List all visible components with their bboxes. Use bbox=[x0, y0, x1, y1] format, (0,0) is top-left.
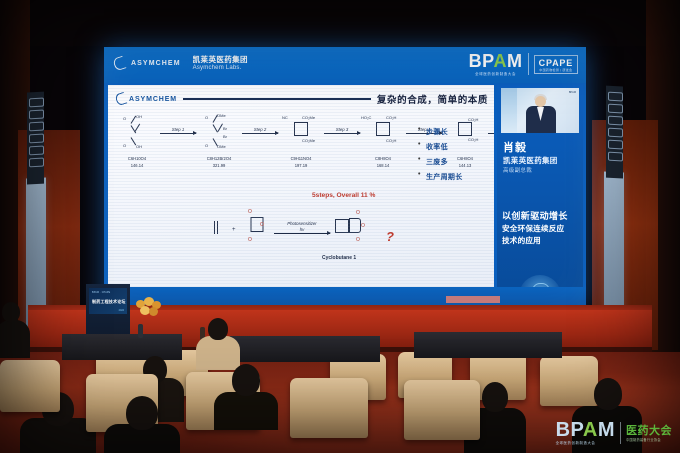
cyclobutane-ring-glyph bbox=[335, 219, 349, 233]
cyclobutane-product-structure: O O O bbox=[330, 207, 370, 251]
compound-3: NC CO₂Me CO₂Me C9H11NO4 197.19 bbox=[278, 111, 324, 168]
compound-3-mw: 197.19 bbox=[278, 163, 324, 169]
atom-label: HO₂C bbox=[361, 115, 371, 120]
speaker-head bbox=[535, 96, 546, 107]
person-head bbox=[482, 382, 508, 412]
compound-2-formula: C8H12Br2O4 bbox=[196, 156, 242, 162]
compound-2-mw: 321.99 bbox=[196, 163, 242, 169]
bpam-logo: BPAM 全球医药创新制造大会 bbox=[469, 52, 523, 76]
atom-label: OH bbox=[136, 114, 142, 119]
bond-zigzag bbox=[209, 117, 229, 147]
step-1-label: Step 1 bbox=[160, 127, 196, 132]
person-head bbox=[594, 378, 622, 410]
step-3-label: Step 3 bbox=[324, 127, 360, 132]
podium-sign-line2: 制药工程技术论坛 bbox=[92, 299, 126, 305]
step-2-label: Step 2 bbox=[242, 127, 278, 132]
atom-label: Br bbox=[223, 126, 227, 131]
plus-glyph: + bbox=[230, 207, 240, 251]
audience-member bbox=[0, 300, 30, 356]
asymchem-brand-en: Asymchem Labs. bbox=[193, 65, 248, 72]
arrow-step-3: Step 3 bbox=[324, 127, 360, 134]
talk-title-line1: 以创新驱动增长 bbox=[502, 209, 568, 222]
watermark-divider bbox=[620, 422, 621, 444]
atom-label: CO₂Me bbox=[302, 138, 315, 143]
atom-label: O bbox=[248, 209, 252, 215]
wm-m: M bbox=[598, 419, 615, 441]
arrow-step-2: Step 2 bbox=[242, 127, 278, 134]
audience-member bbox=[214, 364, 278, 428]
reaction-scheme-bottom: + O O O Photosensitizer hv bbox=[204, 207, 434, 267]
talk-title-line2: 安全环保连续反应 技术的应用 bbox=[502, 223, 583, 247]
maleic-anhydride-structure: O O O bbox=[240, 207, 274, 251]
chair bbox=[0, 360, 60, 412]
cyclobutane-product: O O O bbox=[330, 207, 370, 251]
bond-zigzag bbox=[127, 117, 147, 147]
compound-1-formula: C6H10O4 bbox=[114, 156, 160, 162]
cpape-wordmark: CPAPE bbox=[539, 58, 573, 68]
asymchem-brand-cn: 凯莱英医药集团 bbox=[193, 56, 248, 65]
arrow-step-1: Step 1 bbox=[160, 127, 196, 134]
arrow-shaft bbox=[274, 233, 330, 234]
slide-header: ASYMCHEM 复杂的合成，简单的本质 bbox=[116, 90, 488, 108]
watermark-bpam: BPAM 全球医药创新制造大会 bbox=[556, 421, 615, 445]
arrow-shaft bbox=[160, 133, 196, 134]
slide-bullet-list: 步骤长 收率低 三废多 生产周期长 bbox=[378, 127, 492, 187]
speaker-video-feed: BPAM bbox=[501, 88, 579, 133]
bpam-bp: BP bbox=[469, 51, 494, 71]
podium-sign-line1: BPAM · CPAPE bbox=[92, 292, 110, 294]
corner-watermark: BPAM 全球医药创新制造大会 医药大会 中国制药装备行业协会 bbox=[556, 421, 672, 445]
chair bbox=[404, 380, 480, 440]
slide-title-rule bbox=[183, 98, 371, 100]
chain-glyph: O OH O OH bbox=[127, 117, 147, 147]
atom-label: Br bbox=[223, 134, 227, 139]
atom-label: OMe bbox=[217, 113, 226, 118]
cpape-subtitle: 中国药物检测 | 研发会 bbox=[539, 68, 573, 72]
plus-sign: + bbox=[230, 207, 240, 251]
atom-label: O bbox=[356, 210, 360, 216]
logo-divider bbox=[528, 53, 529, 75]
anhydride-ring-glyph bbox=[349, 218, 361, 233]
person-head bbox=[208, 318, 228, 340]
atom-label: O bbox=[123, 143, 126, 148]
event-logo-block: BPAM 全球医药创新制造大会 CPAPE 中国药物检测 | 研发会 bbox=[469, 52, 578, 76]
conference-photo: ASYMCHEM 凯莱英医药集团 Asymchem Labs. BPAM 全球医… bbox=[0, 0, 680, 453]
atom-label: O bbox=[205, 143, 208, 148]
cyclobutane-caption: Cyclobutane 1 bbox=[322, 255, 356, 261]
atom-label: OH bbox=[136, 144, 142, 149]
person-head bbox=[2, 302, 20, 322]
led-screen: ASYMCHEM 凯莱英医药集团 Asymchem Labs. BPAM 全球医… bbox=[104, 47, 586, 309]
asymchem-brand-block: ASYMCHEM 凯莱英医药集团 Asymchem Labs. bbox=[114, 56, 248, 72]
conference-desk bbox=[230, 336, 380, 362]
watermark-right: 医药大会 中国制药装备行业协会 bbox=[626, 425, 672, 442]
conference-desk bbox=[414, 332, 562, 358]
hv-label: hv bbox=[274, 227, 330, 232]
watermark-bpam-wordmark: BPAM bbox=[556, 421, 615, 440]
overall-yield-text: 5steps, Overall 11 % bbox=[312, 192, 375, 199]
slide-title: 复杂的合成，简单的本质 bbox=[377, 92, 488, 106]
atom-label: O bbox=[361, 223, 365, 229]
podium-sign: BPAM · CPAPE 制药工程技术论坛 2024 bbox=[89, 288, 127, 314]
compound-3-structure: NC CO₂Me CO₂Me bbox=[278, 111, 324, 155]
asymchem-logo-icon-slide bbox=[114, 92, 127, 107]
wm-bp: BP bbox=[556, 419, 583, 441]
person-body bbox=[0, 320, 30, 358]
bullet-item: 收率低 bbox=[418, 142, 492, 152]
slide-logo: ASYMCHEM bbox=[116, 93, 177, 105]
podium-sign-line3: 2024 bbox=[119, 309, 124, 312]
speaker-info-panel: BPAM 肖毅 凯莱英医药集团 高级副总裁 以创新驱动增长 安全环保连续反应 技… bbox=[497, 85, 583, 303]
reactant-alkene bbox=[204, 207, 230, 251]
chain-glyph: O OMe Br Br O OMe bbox=[209, 117, 229, 147]
compound-2: O OMe Br Br O OMe C8H12Br2O4 321.99 bbox=[196, 111, 242, 168]
atom-label: O bbox=[205, 115, 208, 120]
reaction-row: + O O O Photosensitizer hv bbox=[204, 207, 434, 251]
person-head bbox=[232, 364, 260, 396]
photosensitizer-label: Photosensitizer bbox=[274, 221, 330, 226]
talk-title-part3: 技术的应用 bbox=[502, 236, 541, 245]
asymchem-brand-names: 凯莱英医药集团 Asymchem Labs. bbox=[193, 56, 248, 72]
atom-label: OMe bbox=[217, 144, 226, 149]
cyclobutane-ring-glyph bbox=[294, 122, 308, 136]
asymchem-logo-icon bbox=[112, 56, 126, 72]
atom-label: CO₂H bbox=[386, 115, 396, 120]
bpam-subtitle: 全球医药创新制造大会 bbox=[469, 71, 523, 76]
atom-label: O bbox=[248, 237, 252, 243]
atom-label: NC bbox=[282, 115, 288, 120]
atom-label: O bbox=[123, 116, 126, 121]
bpam-m: M bbox=[507, 51, 523, 71]
maleic-anhydride: O O O bbox=[240, 207, 274, 251]
bullet-item: 步骤长 bbox=[418, 127, 492, 137]
speaker-name: 肖毅 bbox=[503, 139, 527, 155]
slide-logo-wordmark: ASYMCHEM bbox=[129, 96, 177, 103]
compound-1-mw: 146.14 bbox=[114, 163, 160, 169]
arrow-photoreaction: Photosensitizer hv bbox=[274, 221, 330, 234]
bullet-item: 生产周期长 bbox=[418, 172, 492, 182]
video-backdrop bbox=[501, 88, 517, 133]
watermark-right-subtitle: 中国制药装备行业协会 bbox=[626, 437, 672, 442]
bpam-a: A bbox=[493, 51, 507, 71]
bpam-wordmark: BPAM bbox=[469, 52, 523, 70]
alkene-structure bbox=[204, 207, 230, 251]
compound-1: O OH O OH C6H10O4 146.14 bbox=[114, 111, 160, 168]
speaker-role: 高级副总裁 bbox=[503, 166, 532, 174]
flower-arrangement bbox=[132, 296, 166, 322]
atom-label: CO₂Me bbox=[302, 115, 315, 120]
wm-a: A bbox=[583, 419, 598, 441]
led-screen-header: ASYMCHEM 凯莱英医药集团 Asymchem Labs. BPAM 全球医… bbox=[104, 47, 586, 83]
atom-label: O bbox=[260, 222, 264, 228]
watermark-right-cn: 医药大会 bbox=[626, 425, 672, 437]
arrow-shaft bbox=[242, 133, 278, 134]
atom-label: O bbox=[356, 237, 360, 243]
compound-1-structure: O OH O OH bbox=[114, 111, 160, 155]
asymchem-logo-wordmark: ASYMCHEM bbox=[131, 60, 181, 67]
question-mark: ? bbox=[386, 229, 394, 244]
presentation-slide: ASYMCHEM 复杂的合成，简单的本质 bbox=[108, 85, 494, 287]
speaker-cabinet-stack-right bbox=[606, 86, 623, 179]
person-body bbox=[214, 392, 278, 430]
speaker-cabinet-stack-left bbox=[27, 92, 44, 185]
arrow-shaft bbox=[324, 133, 360, 134]
led-screen-accent-bar bbox=[446, 296, 500, 303]
water-bottle bbox=[138, 324, 143, 338]
speaker-organization: 凯莱英医药集团 bbox=[503, 155, 558, 166]
cpape-logo: CPAPE 中国药物检测 | 研发会 bbox=[534, 55, 578, 74]
talk-title-part2: 安全环保连续反应 bbox=[502, 224, 564, 233]
compound-3-formula: C9H11NO4 bbox=[278, 156, 324, 162]
ceiling bbox=[0, 0, 680, 46]
audience-member bbox=[104, 396, 180, 453]
video-corner-tag: BPAM bbox=[569, 91, 576, 94]
compound-2-structure: O OMe Br Br O OMe bbox=[196, 111, 242, 155]
person-head bbox=[126, 396, 158, 430]
audience-member bbox=[196, 318, 240, 368]
bullet-item: 三废多 bbox=[418, 157, 492, 167]
chair bbox=[290, 378, 368, 438]
atom-label: CO₂H bbox=[468, 117, 478, 122]
